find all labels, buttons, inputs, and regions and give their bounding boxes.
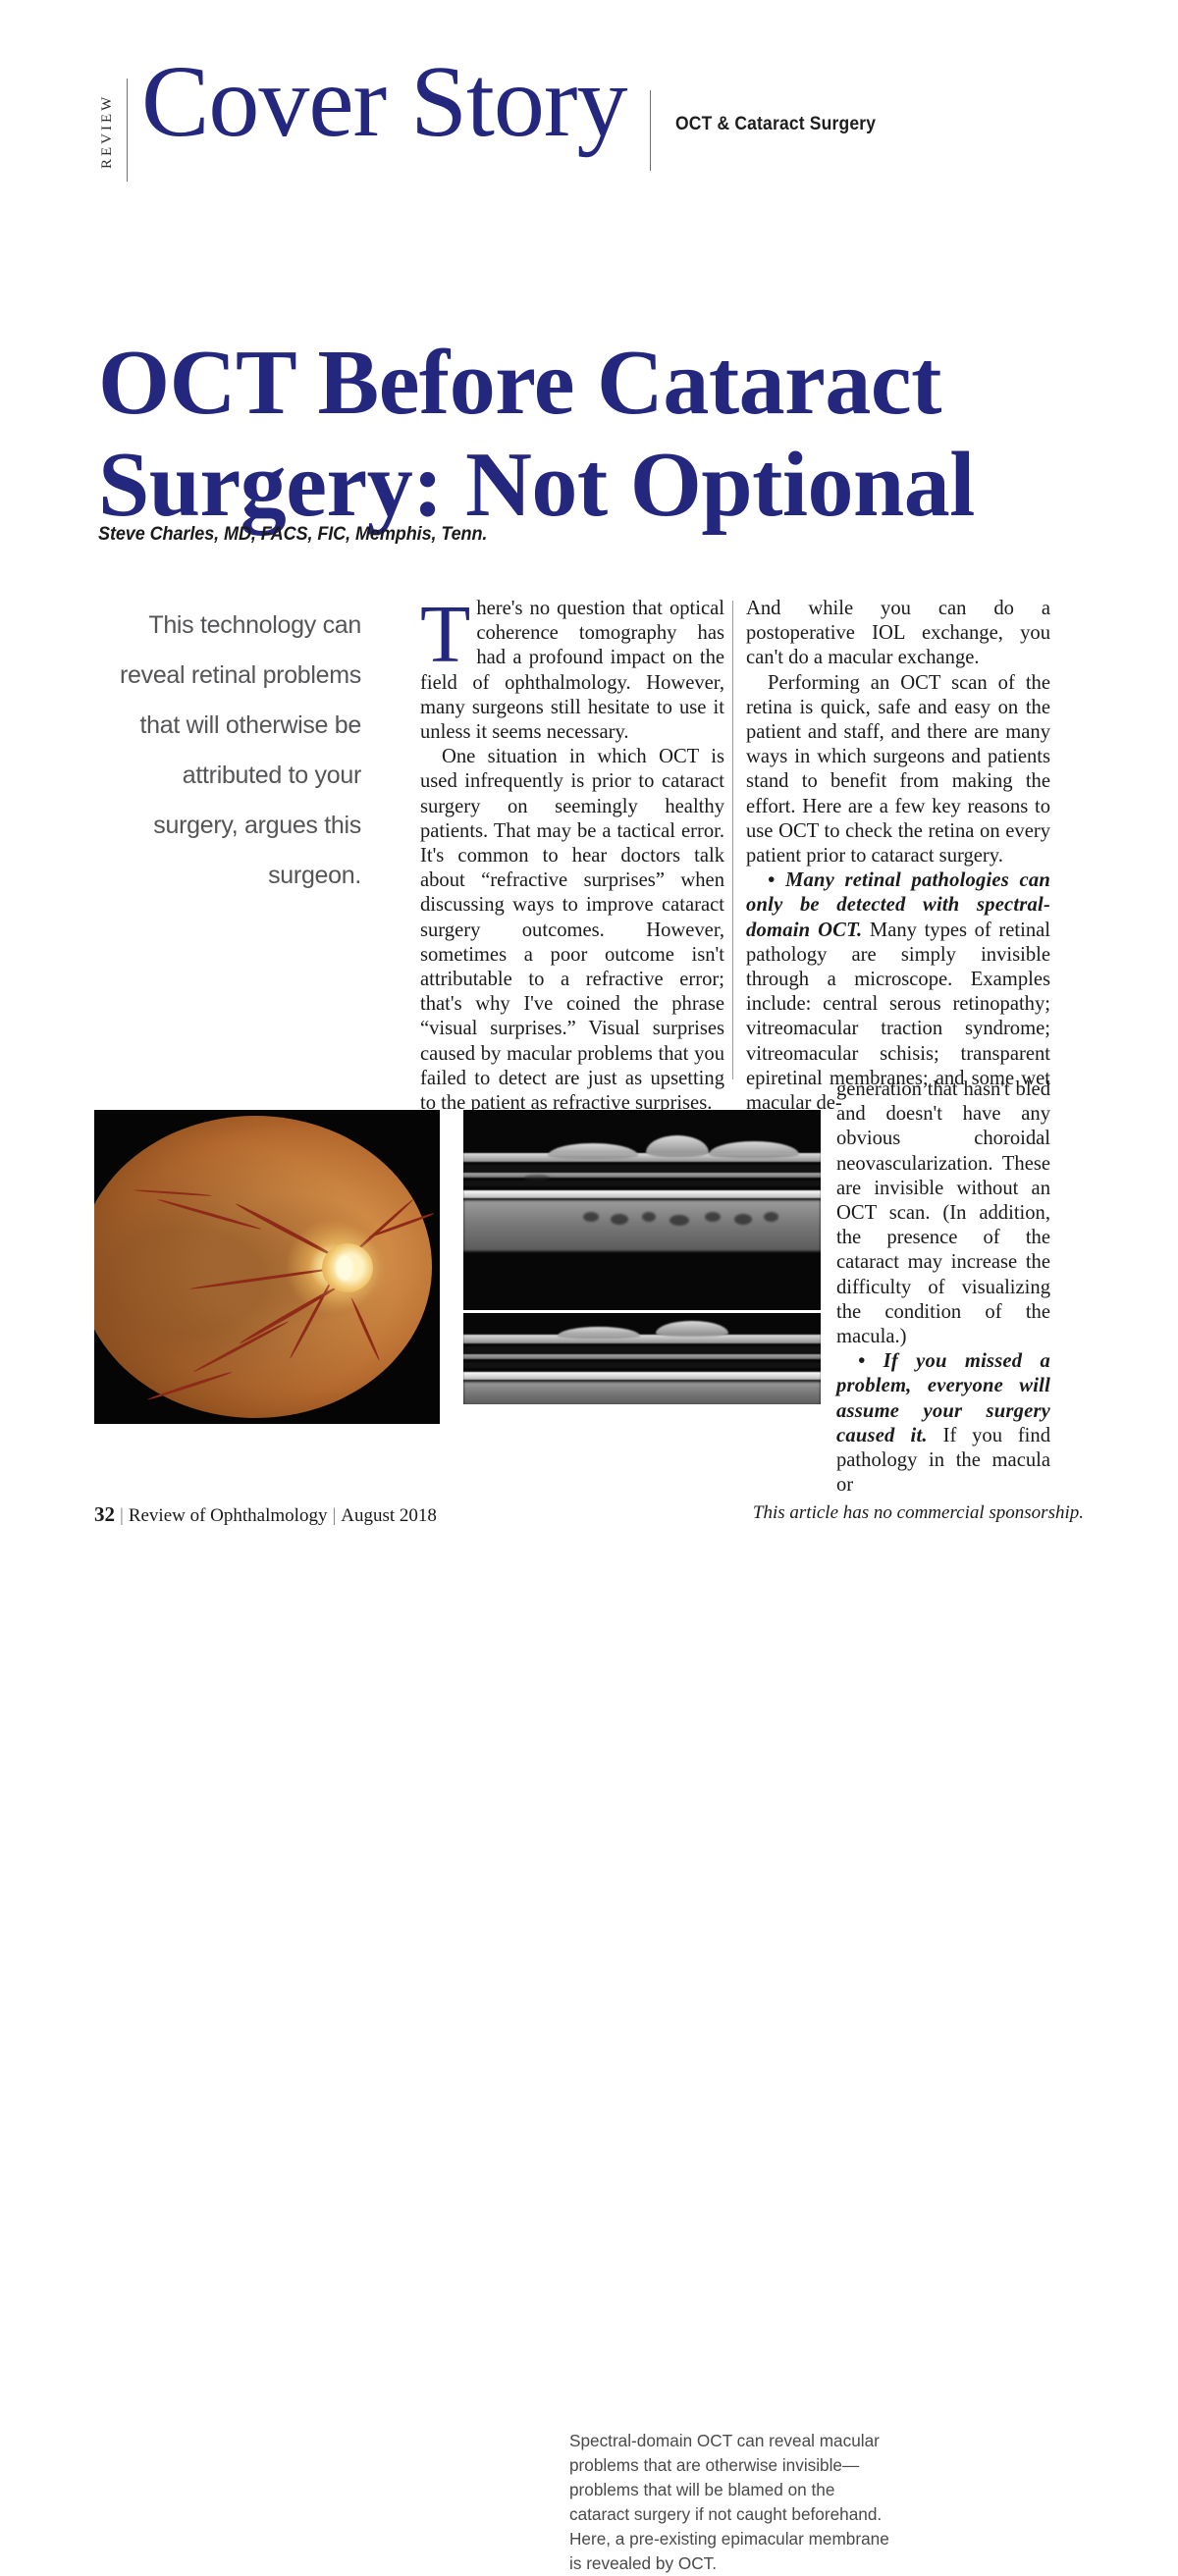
footer-separator-1: | <box>115 1505 129 1526</box>
article-figure: Spectral-domain OCT can reveal macular p… <box>94 1110 821 1424</box>
masthead: REVIEW Cover Story OCT & Cataract Surger… <box>94 77 1086 194</box>
figure-caption: Spectral-domain OCT can reveal macular p… <box>569 2429 893 2576</box>
drop-cap: T <box>420 599 476 667</box>
footer-separator-2: | <box>327 1505 341 1526</box>
review-brand-label: REVIEW <box>94 80 120 183</box>
oct-bscan-bottom <box>463 1313 821 1404</box>
body-column-3: And while you can do a postoperative IOL… <box>746 597 1050 1116</box>
column-divider <box>732 601 733 1079</box>
footer-left: 32|Review of Ophthalmology|August 2018 <box>94 1502 437 1527</box>
article-deck: This technology can reveal retinal probl… <box>118 601 361 901</box>
paragraph: And while you can do a postoperative IOL… <box>746 597 1050 671</box>
oct-bscan-top <box>463 1110 821 1310</box>
paragraph-text: generation that hasn't bled and doesn't … <box>836 1078 1050 1347</box>
paragraph: There's no question that optical coheren… <box>420 597 724 745</box>
paragraph: Performing an OCT scan of the retina is … <box>746 671 1050 869</box>
paragraph-text: One situation in which OCT is used infre… <box>420 746 724 1114</box>
issue-date: August 2018 <box>341 1505 437 1526</box>
article-headline: OCT Before Cataract Surgery: Not Optiona… <box>98 332 1041 536</box>
body-column-3-continued: generation that hasn't bled and doesn't … <box>836 1078 1050 1498</box>
masthead-left-divider <box>127 79 128 182</box>
page-number: 32 <box>94 1502 115 1526</box>
headline-line-2: Surgery: Not Optional <box>98 434 1041 536</box>
article-byline: Steve Charles, MD, FACS, FIC, Memphis, T… <box>98 524 487 546</box>
body-column-2: There's no question that optical coheren… <box>420 597 724 1116</box>
paragraph: generation that hasn't bled and doesn't … <box>836 1078 1050 1349</box>
section-kicker: OCT & Cataract Surgery <box>675 114 876 135</box>
optic-cup <box>336 1255 353 1281</box>
bullet-paragraph: • If you missed a problem, everyone will… <box>836 1349 1050 1498</box>
paragraph-text: Performing an OCT scan of the retina is … <box>746 672 1050 867</box>
publication-name: Review of Ophthalmology <box>129 1505 328 1526</box>
fundus-globe <box>94 1116 432 1418</box>
paragraph-text: And while you can do a postoperative IOL… <box>746 598 1050 668</box>
fundus-photograph <box>94 1110 440 1424</box>
paragraph: One situation in which OCT is used infre… <box>420 745 724 1116</box>
cover-story-title: Cover Story <box>141 51 627 153</box>
sponsorship-note: This article has no commercial sponsorsh… <box>753 1502 1084 1524</box>
masthead-right-divider <box>650 90 651 171</box>
headline-line-1: OCT Before Cataract <box>98 332 941 434</box>
